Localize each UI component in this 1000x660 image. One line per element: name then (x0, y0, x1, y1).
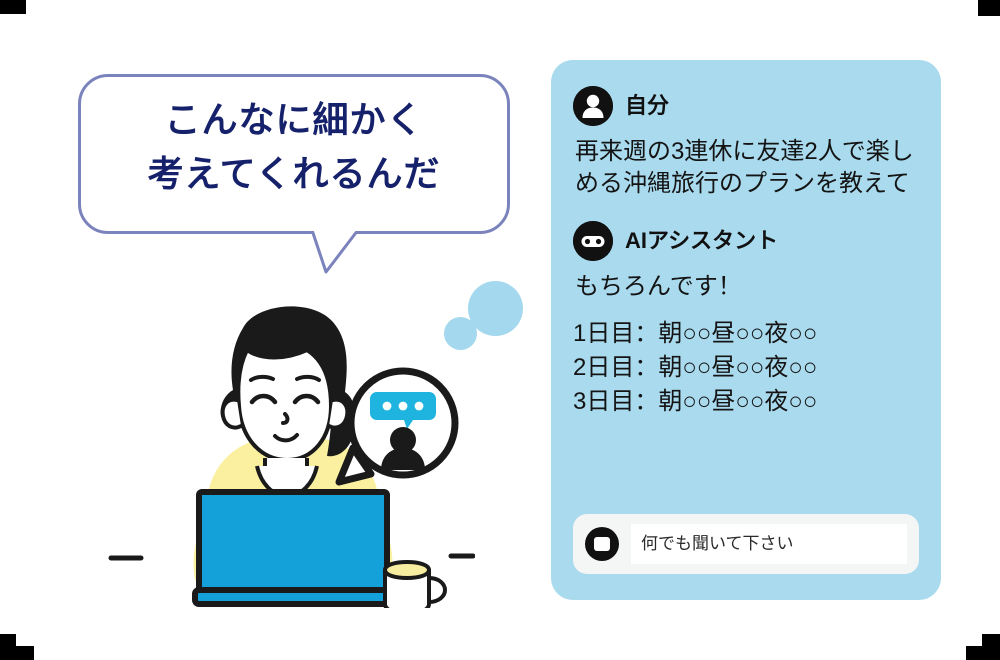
message-input[interactable] (631, 524, 907, 564)
crop-mark-bottom-left-v (0, 634, 16, 660)
crop-mark-bottom-right-v (982, 634, 1000, 660)
speech-bubble-text: こんなに細かく 考えてくれるんだ (81, 93, 507, 201)
page-canvas: こんなに細かく 考えてくれるんだ (0, 0, 1000, 660)
chat-bubble-icon (585, 527, 619, 561)
illustration-woman-at-laptop (95, 268, 475, 608)
speech-bubble-line-2: 考えてくれるんだ (81, 147, 507, 201)
itinerary-day-3: 3日目：朝○○昼○○夜○○ (573, 385, 919, 419)
speech-bubble: こんなに細かく 考えてくれるんだ (78, 74, 510, 234)
crop-mark-top-left (0, 0, 26, 14)
message-author-assistant: AIアシスタント (625, 230, 778, 252)
chat-panel: 自分 再来週の3連休に友達2人で楽しめる沖縄旅行のプランを教えて AIアシスタン… (551, 60, 941, 600)
crop-mark-top-right (978, 0, 1000, 16)
message-composer[interactable] (573, 514, 919, 574)
person-avatar-icon (573, 86, 613, 126)
message-body-assistant: もちろんです！ (575, 271, 919, 303)
speech-bubble-line-1: こんなに細かく (81, 93, 507, 147)
itinerary-list: 1日目：朝○○昼○○夜○○ 2日目：朝○○昼○○夜○○ 3日目：朝○○昼○○夜○… (573, 317, 919, 419)
itinerary-day-2: 2日目：朝○○昼○○夜○○ (573, 351, 919, 385)
thought-bubble-icon (339, 371, 455, 482)
message-header-assistant: AIアシスタント (573, 221, 919, 261)
itinerary-day-1: 1日目：朝○○昼○○夜○○ (573, 317, 919, 351)
message-author-user: 自分 (625, 95, 669, 117)
message-header-user: 自分 (573, 86, 919, 126)
robot-avatar-icon (573, 221, 613, 261)
message-body-user: 再来週の3連休に友達2人で楽しめる沖縄旅行のプランを教えて (575, 136, 915, 199)
